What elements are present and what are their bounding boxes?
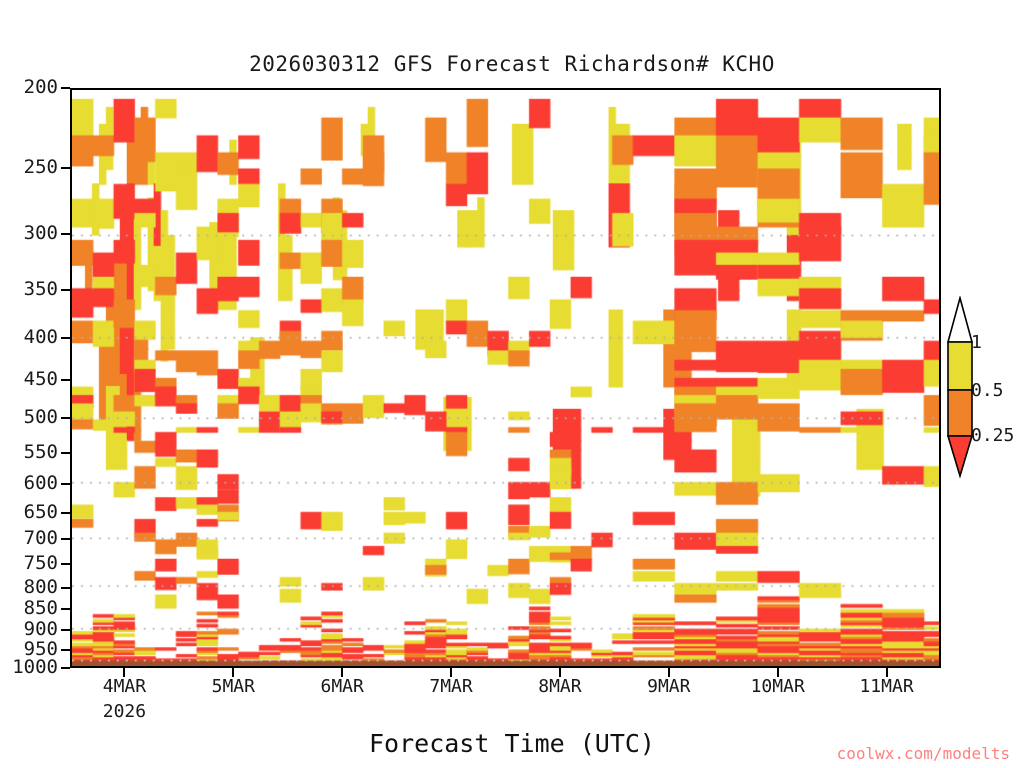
colorbar-label-0point5: 0.5 [971, 380, 1004, 401]
chart-figure: 2026030312 GFS Forecast Richardson# KCHO… [0, 0, 1024, 768]
x-axis-tick-label: 7MAR [429, 676, 472, 697]
y-axis-tick-label: 400 [24, 328, 58, 347]
colorbar-band-red [948, 436, 972, 476]
y-axis-tick-mark [61, 337, 70, 339]
colorbar-band-above-1 [948, 298, 972, 342]
y-axis-tick-mark [61, 512, 70, 514]
x-axis-tick-label: 10MAR [751, 676, 805, 697]
y-axis-tick-mark [61, 563, 70, 565]
colorbar-band-orange [948, 390, 972, 436]
x-axis-tick-label: 11MAR [859, 676, 913, 697]
y-axis-tick-mark [61, 608, 70, 610]
y-axis-tick-mark [61, 87, 70, 89]
y-axis-tick-mark [61, 587, 70, 589]
y-axis-tick-label: 850 [24, 599, 58, 618]
y-axis-tick-mark [61, 417, 70, 419]
y-axis-tick-mark [61, 629, 70, 631]
y-axis-tick-label: 550 [24, 443, 58, 462]
y-axis-tick-mark [61, 452, 70, 454]
y-axis-tick-mark [61, 649, 70, 651]
plot-area [70, 88, 941, 668]
x-axis-tick-label: 4MAR [103, 676, 146, 697]
y-axis-tick-label: 600 [24, 474, 58, 493]
x-axis-tick-label: 6MAR [321, 676, 364, 697]
x-axis-year-label: 2026 [103, 701, 146, 722]
y-axis-tick-label: 650 [24, 503, 58, 522]
y-axis-tick-label: 300 [24, 224, 58, 243]
y-axis-tick-labels: 2002503003504004505005506006507007508008… [0, 0, 58, 768]
x-axis-tick-label: 8MAR [538, 676, 581, 697]
y-axis-tick-label: 900 [24, 620, 58, 639]
y-axis-tick-label: 350 [24, 280, 58, 299]
colorbar-label-0point25: 0.25 [971, 425, 1014, 446]
y-axis-tick-mark [61, 667, 70, 669]
y-axis-tick-mark [61, 483, 70, 485]
y-axis-tick-label: 200 [24, 78, 58, 97]
x-axis-tick-label: 5MAR [212, 676, 255, 697]
colorbar-band-yellow [948, 342, 972, 390]
colorbar-label-1: 1 [971, 332, 982, 353]
y-axis-tick-label: 700 [24, 529, 58, 548]
y-axis-tick-label: 800 [24, 578, 58, 597]
y-axis-tick-mark [61, 379, 70, 381]
chart-title: 2026030312 GFS Forecast Richardson# KCHO [0, 52, 1024, 76]
y-axis-tick-label: 1000 [12, 658, 58, 677]
heatmap-canvas [72, 90, 939, 666]
y-axis-tick-label: 250 [24, 158, 58, 177]
y-axis-tick-mark [61, 167, 70, 169]
y-axis-tick-mark [61, 289, 70, 291]
x-axis-tick-label: 9MAR [647, 676, 690, 697]
y-axis-tick-mark [61, 538, 70, 540]
y-axis-tick-label: 750 [24, 554, 58, 573]
watermark-link[interactable]: coolwx.com/modelts [837, 744, 1010, 763]
y-axis-tick-label: 500 [24, 408, 58, 427]
y-axis-tick-label: 450 [24, 370, 58, 389]
y-axis-tick-mark [61, 233, 70, 235]
